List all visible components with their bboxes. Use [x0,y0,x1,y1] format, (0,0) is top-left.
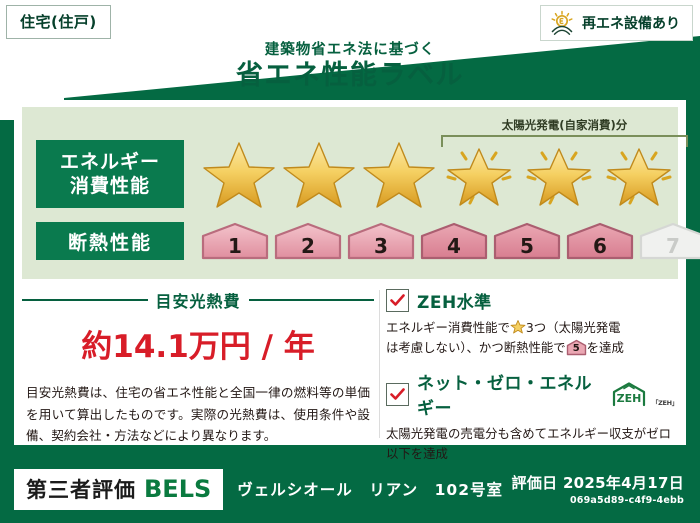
insulation-grade-scale: 1 2 3 4 5 [200,221,700,261]
sun-solar-icon [549,10,575,36]
lower-section: 目安光熱費 約14.1万円 / 年 目安光熱費は、住宅の省エネ性能と全国一律の燃… [14,286,686,444]
utility-cost-value: 約14.1万円 / 年 [22,321,374,366]
zeh-level-header: ZEH水準 [386,288,678,313]
property-name: ヴェルシオール リアン 102号室 [237,478,503,500]
star-icon-inline [510,319,526,335]
zeh-logo-icon: ZEH 「ZEH」 [608,381,678,407]
zeh-desc-grade: 5 [566,341,587,357]
energy-label-line1: エネルギー [60,150,160,174]
star-icon-solar [440,137,518,211]
utility-cost-heading-label: 目安光熱費 [156,288,241,312]
zeh-desc-part1: エネルギー消費性能で [386,320,510,335]
evaluation-date: 評価日 2025年4月17日 [512,472,684,493]
house-grade-icon: 3 [346,221,416,261]
house-grade-icon: 5 [492,221,562,261]
footer-bar: 第三者評価 BELS ヴェルシオール リアン 102号室 評価日 2025年4月… [0,455,700,523]
check-icon [386,383,409,406]
insulation-label: 断熱性能 [68,228,152,255]
star-icon-solar [600,137,678,211]
energy-label-line2: 消費性能 [70,174,150,198]
house-grade-icon: 6 [565,221,635,261]
star-icon [200,137,278,211]
net-zero-header: ネット・ゼロ・エネルギー ZEH 「ZEH」 [386,369,678,419]
energy-performance-row: エネルギー 消費性能 [36,137,678,211]
header-subtitle: 建築物省エネ法に基づく [0,38,700,59]
performance-panel: 太陽光発電(自家消費)分 エネルギー 消費性能 [22,107,678,279]
insulation-performance-badge: 断熱性能 [36,222,184,260]
zeh-desc-part2: は考慮しない）、かつ断熱性能で [386,340,566,355]
zeh-desc-part3: を達成 [587,340,624,355]
evaluation-id: 069a5d89-c4f9-4ebb [512,495,684,506]
solar-bracket-label: 太陽光発電(自家消費)分 [437,117,692,133]
svg-text:ZEH: ZEH [617,392,642,405]
label-card: 太陽光発電(自家消費)分 エネルギー 消費性能 [14,100,686,445]
housing-type-label: 住宅(住戸) [20,13,97,31]
certifications-column: ZEH水準 エネルギー消費性能で3つ（太陽光発電 は考慮しない）、かつ断熱性能で… [386,288,678,475]
zeh-desc-star-text: 3つ（太陽光発電 [526,320,621,335]
bels-en-label: BELS [144,475,211,503]
certification-zeh-level: ZEH水準 エネルギー消費性能で3つ（太陽光発電 は考慮しない）、かつ断熱性能で… [386,288,678,358]
house-grade-icon: 4 [419,221,489,261]
energy-performance-badge: エネルギー 消費性能 [36,140,184,208]
evaluation-info: 評価日 2025年4月17日 069a5d89-c4f9-4ebb [512,472,684,506]
bels-jp-label: 第三者評価 [26,474,136,504]
utility-cost-column: 目安光熱費 約14.1万円 / 年 目安光熱費は、住宅の省エネ性能と全国一律の燃… [22,286,374,447]
house-grade-icon-inline: 5 [566,339,587,356]
housing-type-tab: 住宅(住戸) [6,5,111,39]
energy-star-rating [200,137,678,211]
bels-badge: 第三者評価 BELS [14,469,223,510]
insulation-performance-row: 断熱性能 1 2 3 4 [36,221,700,261]
heading-rule-right [249,299,375,301]
zeh-level-description: エネルギー消費性能で3つ（太陽光発電 は考慮しない）、かつ断熱性能で5を達成 [386,318,678,358]
column-divider [379,290,380,438]
renewable-energy-badge: 再エネ設備あり [540,5,693,41]
star-icon [280,137,358,211]
utility-cost-note: 目安光熱費は、住宅の省エネ性能と全国一律の燃料等の単価を用いて算出したものです。… [22,382,374,447]
zeh-level-title: ZEH水準 [417,288,492,313]
utility-cost-heading: 目安光熱費 [22,288,374,312]
page-title: 省エネ性能ラベル [0,62,700,90]
label-header: 建築物省エネ法に基づく 省エネ性能ラベル [0,38,700,90]
heading-rule-left [22,299,148,301]
renewable-energy-label: 再エネ設備あり [582,13,680,33]
net-zero-title: ネット・ゼロ・エネルギー [417,369,597,419]
house-grade-icon-inactive: 7 [638,221,700,261]
zeh-logo-sub: 「ZEH」 [652,397,678,407]
certification-net-zero-energy: ネット・ゼロ・エネルギー ZEH 「ZEH」 太陽光発電の売電分も含めてエネルギ… [386,369,678,464]
star-icon [360,137,438,211]
house-grade-icon: 2 [273,221,343,261]
check-icon [386,289,409,312]
house-grade-icon: 1 [200,221,270,261]
star-icon-solar [520,137,598,211]
